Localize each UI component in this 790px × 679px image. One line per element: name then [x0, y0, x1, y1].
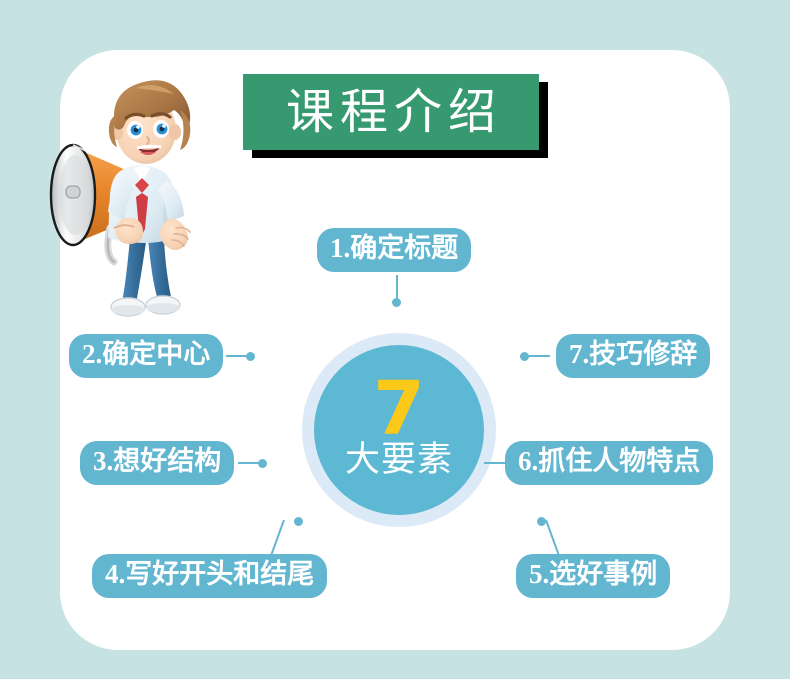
connector-dot-1: [392, 298, 401, 307]
element-pill-4[interactable]: 4.写好开头和结尾: [92, 554, 327, 598]
connector-dot-7: [520, 352, 529, 361]
page-title: 课程介绍: [280, 88, 502, 136]
connector-dot-2: [246, 352, 255, 361]
connector-dot-5: [537, 517, 546, 526]
connector-line-1: [396, 275, 398, 300]
connector-line-7: [528, 355, 550, 357]
connector-line-6: [484, 462, 506, 464]
element-pill-7[interactable]: 7.技巧修辞: [556, 334, 710, 378]
mascot-illustration: [18, 52, 248, 322]
element-pill-6[interactable]: 6.抓住人物特点: [505, 441, 713, 485]
element-pill-7-label: 7.技巧修辞: [569, 341, 697, 368]
center-number: 7: [373, 378, 425, 442]
element-pill-6-label: 6.抓住人物特点: [518, 448, 700, 475]
element-pill-5[interactable]: 5.选好事例: [516, 554, 670, 598]
connector-dot-4: [294, 517, 303, 526]
element-pill-2[interactable]: 2.确定中心: [69, 334, 223, 378]
element-pill-1-label: 1.确定标题: [330, 235, 458, 262]
poster-canvas: 课程介绍: [0, 0, 790, 679]
center-label: 大要素: [345, 443, 453, 478]
connector-line-3: [238, 462, 260, 464]
center-circle: 7 大要素: [314, 345, 484, 515]
connector-dot-3: [258, 459, 267, 468]
element-pill-3[interactable]: 3.想好结构: [80, 441, 234, 485]
title-banner: 课程介绍: [243, 74, 539, 150]
element-pill-5-label: 5.选好事例: [529, 561, 657, 588]
element-pill-1[interactable]: 1.确定标题: [317, 228, 471, 272]
element-pill-3-label: 3.想好结构: [93, 448, 221, 475]
mascot-svg: [18, 52, 248, 322]
element-pill-2-label: 2.确定中心: [82, 341, 210, 368]
element-pill-4-label: 4.写好开头和结尾: [105, 561, 314, 588]
connector-line-2: [226, 355, 248, 357]
